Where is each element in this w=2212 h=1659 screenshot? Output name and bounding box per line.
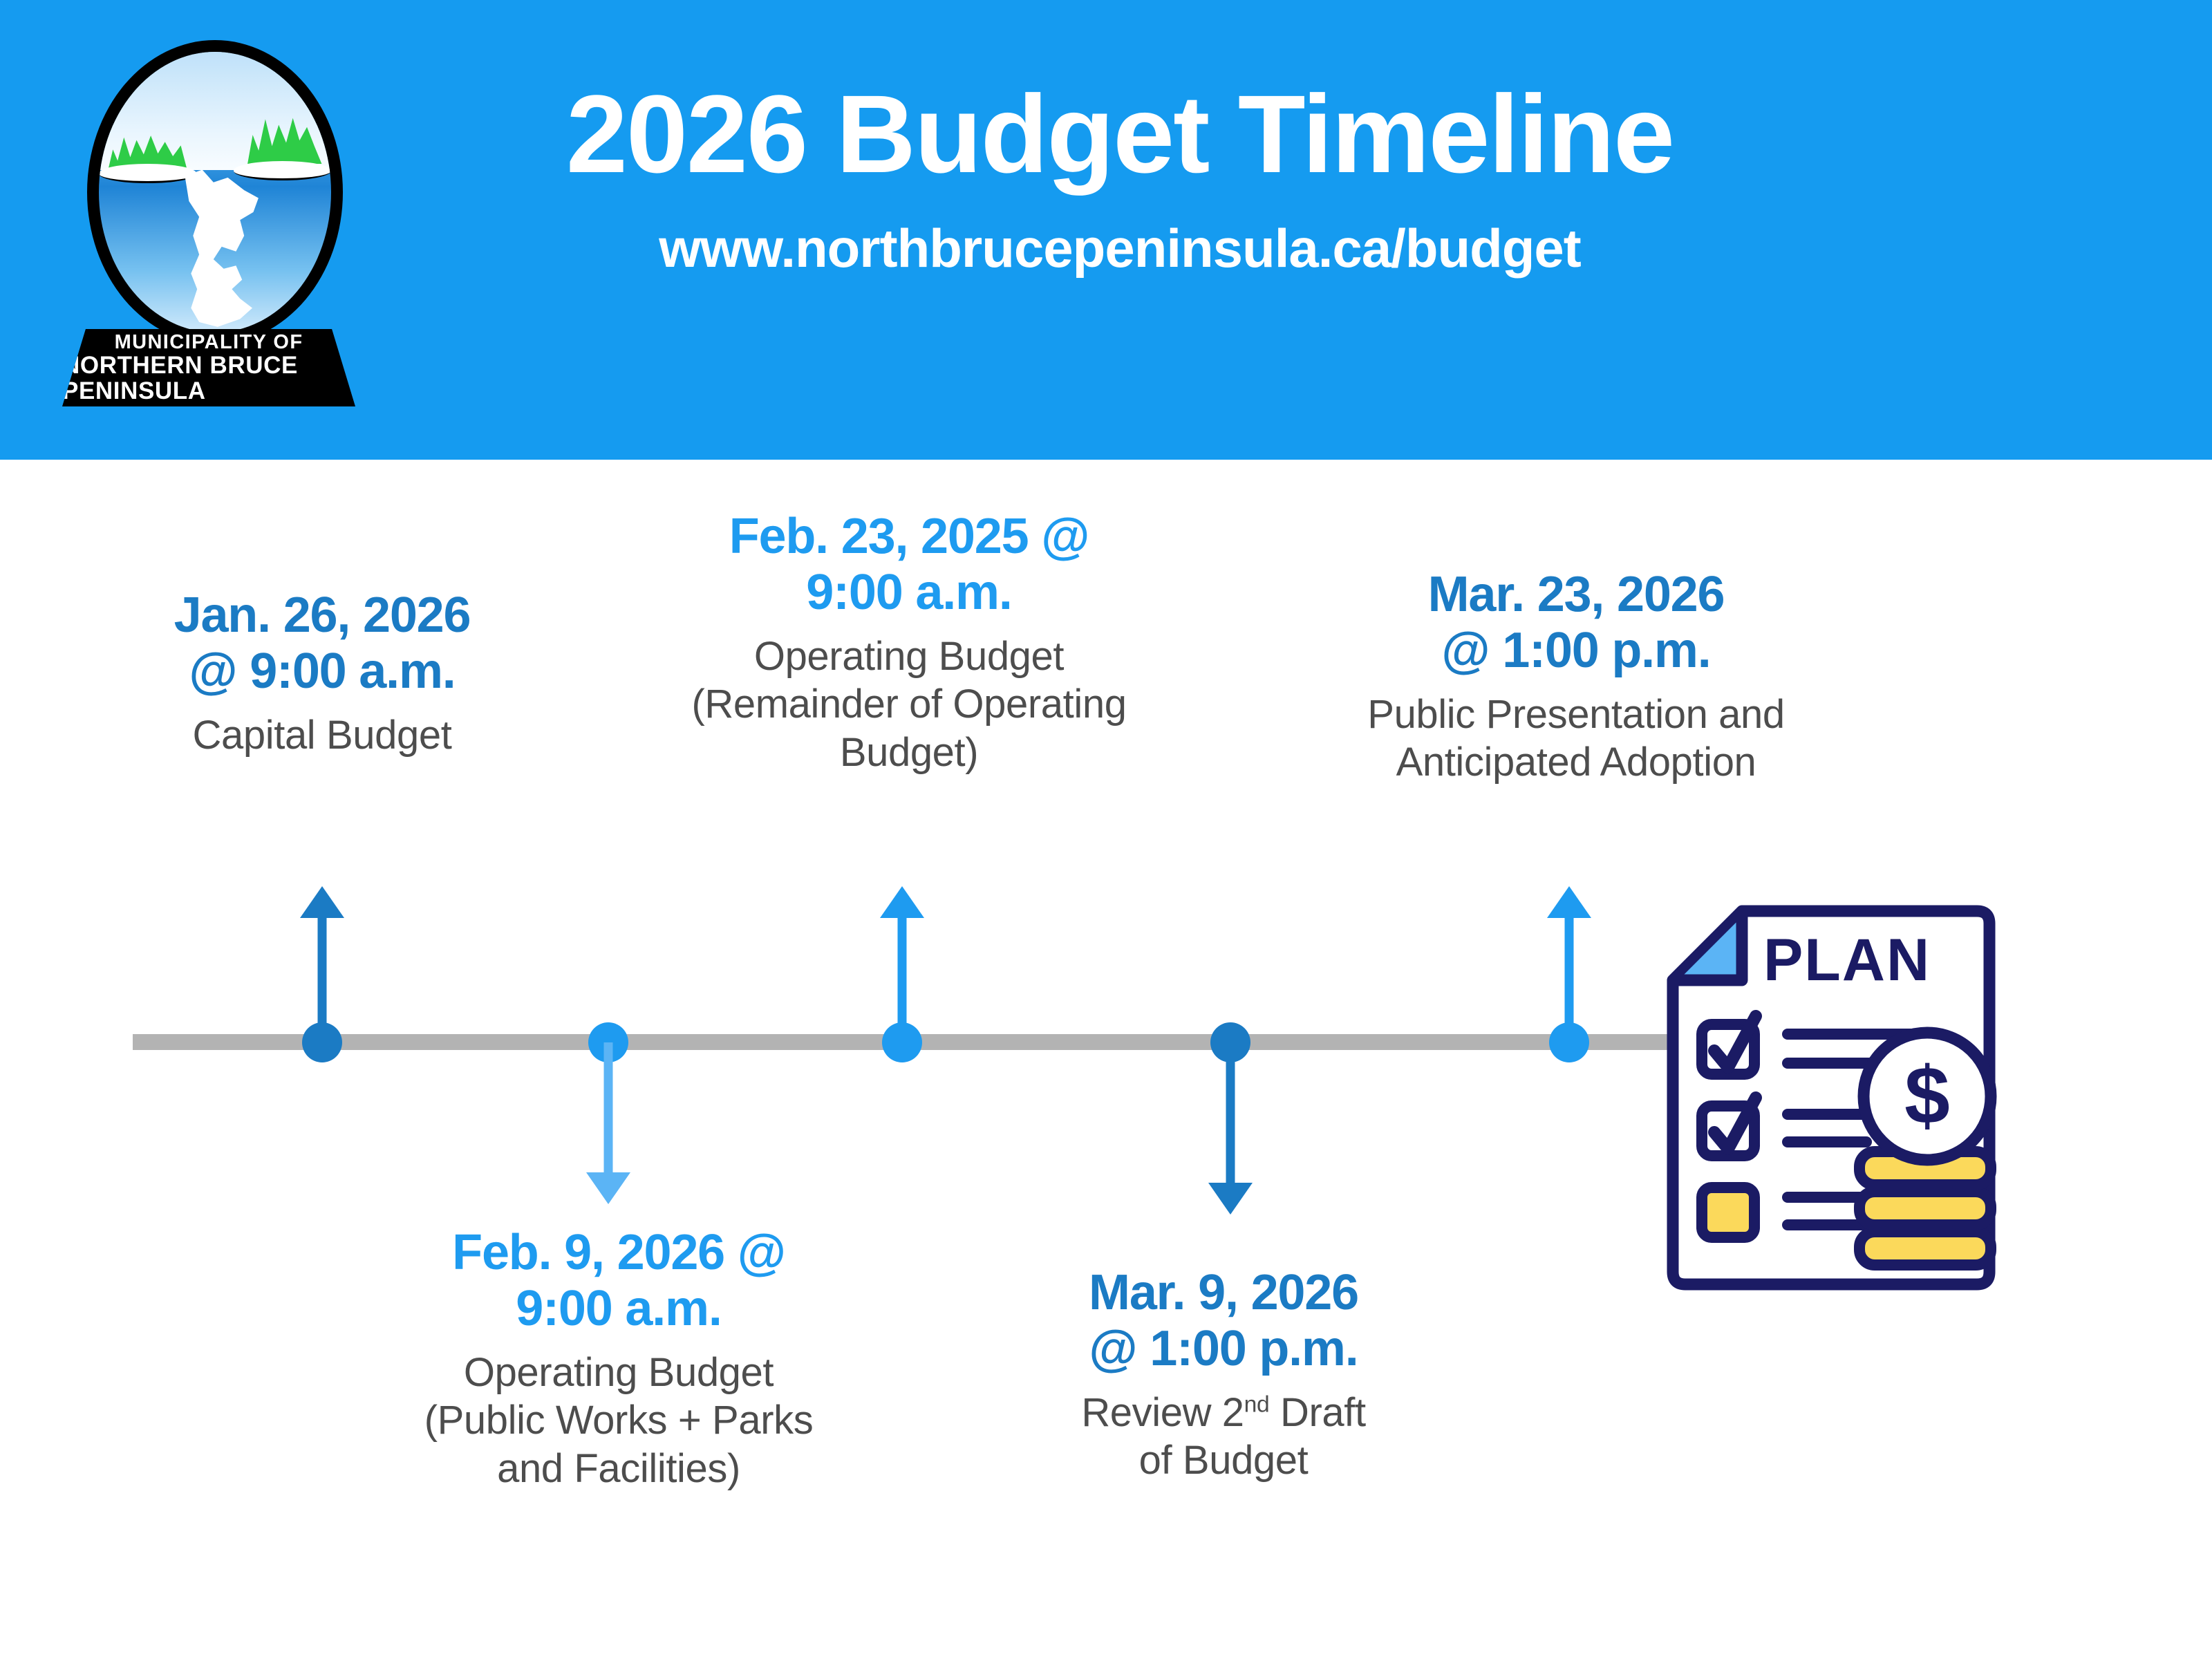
logo-banner: MUNICIPALITY OF NORTHERN BRUCE PENINSULA bbox=[62, 329, 355, 406]
event-date-feb-9: Feb. 9, 2026 @ 9:00 a.m. bbox=[346, 1225, 892, 1338]
plan-document-illustration: PLAN $ bbox=[1659, 899, 2005, 1306]
header-text-block: 2026 Budget Timeline www.northbrucepenin… bbox=[387, 76, 1853, 280]
document-heading-plan: PLAN bbox=[1763, 927, 1931, 993]
dollar-sign-icon: $ bbox=[1904, 1050, 1950, 1141]
event-time-text-mar-23: @ 1:00 p.m. bbox=[1441, 623, 1710, 678]
event-time-text-jan-26: @ 9:00 a.m. bbox=[189, 644, 455, 699]
event-desc-line3-feb-9: and Facilities) bbox=[497, 1446, 740, 1491]
timeline-label-feb-23: Feb. 23, 2025 @ 9:00 a.m. Operating Budg… bbox=[626, 509, 1192, 777]
event-time-text-feb-23: 9:00 a.m. bbox=[806, 565, 1011, 620]
event-date-mar-23: Mar. 23, 2026 @ 1:00 p.m. bbox=[1293, 567, 1859, 679]
folded-corner-icon bbox=[1678, 917, 1742, 980]
arrow-up-icon-feb-23 bbox=[880, 886, 924, 918]
logo-banner-line1: MUNICIPALITY OF bbox=[115, 332, 303, 353]
budget-website-url[interactable]: www.northbrucepeninsula.ca/budget bbox=[387, 217, 1853, 280]
arrow-up-icon-mar-23 bbox=[1547, 886, 1591, 918]
event-desc-pre-mar-9: Review 2 bbox=[1081, 1390, 1244, 1435]
event-desc-line2-mar-9: of Budget bbox=[1139, 1438, 1309, 1483]
coin-stack-bottom bbox=[1859, 1232, 1991, 1265]
event-description-mar-23: Public Presentation and Anticipated Adop… bbox=[1293, 691, 1859, 787]
event-desc-line2-feb-23: (Remainder of Operating bbox=[691, 682, 1126, 727]
event-description-jan-26: Capital Budget bbox=[59, 711, 585, 760]
timeline-dot-mar-23[interactable] bbox=[1549, 1022, 1589, 1062]
event-description-feb-23: Operating Budget (Remainder of Operating… bbox=[626, 632, 1192, 777]
coin-stack-middle bbox=[1859, 1192, 1991, 1225]
arrow-up-icon-jan-26 bbox=[300, 886, 344, 918]
event-date-text-mar-9: Mar. 9, 2026 bbox=[1089, 1265, 1358, 1320]
event-desc-line1-feb-23: Operating Budget bbox=[754, 634, 1064, 679]
event-date-text-mar-23: Mar. 23, 2026 bbox=[1428, 567, 1725, 622]
logo-shoreline-right bbox=[234, 161, 331, 180]
event-date-text-jan-26: Jan. 26, 2026 bbox=[174, 588, 471, 643]
timeline-label-feb-9: Feb. 9, 2026 @ 9:00 a.m. Operating Budge… bbox=[346, 1225, 892, 1493]
timeline-label-mar-9: Mar. 9, 2026 @ 1:00 p.m. Review 2nd Draf… bbox=[982, 1265, 1465, 1485]
event-desc-line3-feb-23: Budget) bbox=[840, 730, 978, 775]
event-desc-line2-feb-9: (Public Works + Parks bbox=[424, 1398, 814, 1443]
event-desc-line2-mar-23: Anticipated Adoption bbox=[1396, 740, 1756, 785]
arrow-down-icon-mar-9 bbox=[1208, 1183, 1253, 1215]
event-date-mar-9: Mar. 9, 2026 @ 1:00 p.m. bbox=[982, 1265, 1465, 1378]
event-desc-ordinal-mar-9: nd bbox=[1244, 1391, 1270, 1417]
event-description-feb-9: Operating Budget (Public Works + Parks a… bbox=[346, 1349, 892, 1493]
event-date-text-feb-23: Feb. 23, 2025 @ bbox=[729, 509, 1089, 564]
connector-stem-mar-9 bbox=[1226, 1042, 1235, 1183]
logo-oval-scene bbox=[87, 40, 343, 344]
logo-peninsula-shape-icon bbox=[169, 170, 271, 327]
logo-banner-line2: NORTHERN BRUCE PENINSULA bbox=[62, 353, 355, 404]
checkbox-3 bbox=[1702, 1188, 1754, 1237]
event-date-text-feb-9: Feb. 9, 2026 @ bbox=[452, 1225, 785, 1280]
event-desc-line1-mar-23: Public Presentation and bbox=[1367, 692, 1784, 737]
page-title: 2026 Budget Timeline bbox=[387, 76, 1853, 192]
timeline-dot-feb-23[interactable] bbox=[882, 1022, 922, 1062]
event-description-mar-9: Review 2nd Draft of Budget bbox=[982, 1389, 1465, 1485]
timeline-label-jan-26: Jan. 26, 2026 @ 9:00 a.m. Capital Budget bbox=[59, 588, 585, 759]
event-time-text-mar-9: @ 1:00 p.m. bbox=[1089, 1321, 1358, 1376]
infographic-page: MUNICIPALITY OF NORTHERN BRUCE PENINSULA… bbox=[0, 0, 2212, 1659]
header-band: MUNICIPALITY OF NORTHERN BRUCE PENINSULA… bbox=[0, 0, 2212, 460]
connector-stem-feb-9 bbox=[604, 1042, 613, 1172]
logo-shoreline-left bbox=[99, 164, 196, 182]
timeline-label-mar-23: Mar. 23, 2026 @ 1:00 p.m. Public Present… bbox=[1293, 567, 1859, 787]
event-desc-post-mar-9: Draft bbox=[1269, 1390, 1365, 1435]
event-time-text-feb-9: 9:00 a.m. bbox=[516, 1281, 721, 1336]
arrow-down-icon-feb-9 bbox=[586, 1172, 630, 1204]
municipality-logo: MUNICIPALITY OF NORTHERN BRUCE PENINSULA bbox=[54, 33, 358, 427]
timeline-dot-jan-26[interactable] bbox=[302, 1022, 342, 1062]
event-date-feb-23: Feb. 23, 2025 @ 9:00 a.m. bbox=[626, 509, 1192, 621]
event-desc-line1-feb-9: Operating Budget bbox=[464, 1350, 774, 1395]
event-date-jan-26: Jan. 26, 2026 @ 9:00 a.m. bbox=[59, 588, 585, 700]
